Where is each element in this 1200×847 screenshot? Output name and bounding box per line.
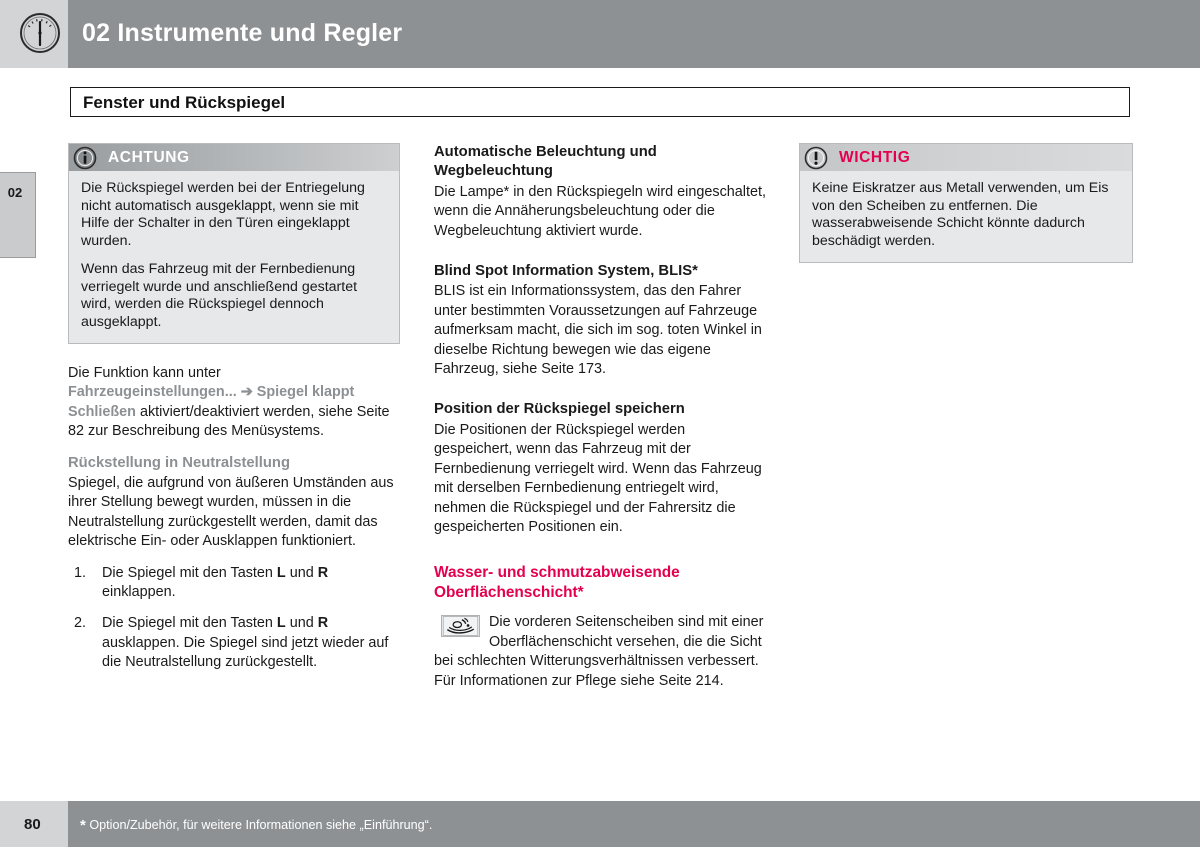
achtung-paragraph-2: Wenn das Fahrzeug mit der Fernbedienung …: [81, 261, 387, 331]
chapter-tab-label: 02: [0, 185, 33, 200]
spacer: [434, 253, 766, 262]
info-icon: [73, 146, 97, 170]
step-text-part1: Die Spiegel mit den Tasten: [102, 565, 277, 581]
wichtig-paragraph-1: Keine Eiskratzer aus Metall verwenden, u…: [812, 180, 1120, 250]
key-label-r: R: [318, 565, 328, 581]
menu-arrow-glyph: ➔: [241, 384, 253, 400]
step-text-part1: Die Spiegel mit den Tasten: [102, 615, 277, 631]
reset-paragraph: Spiegel, die aufgrund von äußeren Umstän…: [68, 474, 400, 552]
blis-paragraph: BLIS ist ein Informationssystem, das den…: [434, 282, 766, 379]
lighting-heading: Automatische Beleuchtung und Wegbeleucht…: [434, 143, 766, 182]
reset-heading: Rückstellung in Neutralstellung: [68, 454, 400, 473]
left-column: ACHTUNG Die Rückspiegel werden bei der E…: [68, 143, 400, 685]
page-title: 02 Instrumente und Regler: [82, 19, 402, 48]
position-paragraph: Die Positionen der Rückspiegel werden ge…: [434, 421, 766, 537]
step-text-part3: ausklappen. Die Spiegel sind jetzt wiede…: [102, 635, 388, 670]
achtung-callout-body: Die Rückspiegel werden bei der Entriegel…: [69, 171, 399, 343]
achtung-paragraph-1: Die Rückspiegel werden bei der Entriegel…: [81, 180, 387, 250]
spacer: [68, 344, 400, 364]
water-repellent-glass-icon: [441, 615, 480, 637]
list-item: 2.Die Spiegel mit den Tasten L und R aus…: [68, 614, 400, 672]
step-text-part3: einklappen.: [102, 584, 176, 600]
footnote: * Option/Zubehör, für weitere Informatio…: [80, 817, 432, 834]
spacer: [434, 604, 766, 613]
achtung-callout: ACHTUNG Die Rückspiegel werden bei der E…: [68, 143, 400, 344]
wichtig-callout-body: Keine Eiskratzer aus Metall verwenden, u…: [800, 171, 1132, 262]
coating-paragraph-block: Die vorderen Seitenscheiben sind mit ein…: [434, 613, 766, 691]
spacer: [434, 391, 766, 400]
middle-column: Automatische Beleuchtung und Wegbeleucht…: [434, 143, 766, 691]
chapter-tab[interactable]: 02: [0, 172, 36, 258]
coating-paragraph: Die vorderen Seitenscheiben sind mit ein…: [434, 613, 766, 691]
footnote-text: Option/Zubehör, für weitere Informatione…: [89, 818, 432, 832]
achtung-callout-title: ACHTUNG: [108, 149, 190, 167]
wichtig-callout-header: WICHTIG: [800, 144, 1132, 171]
right-column: WICHTIG Keine Eiskratzer aus Metall verw…: [799, 143, 1131, 263]
section-title: Fenster und Rückspiegel: [83, 93, 285, 113]
page-number: 80: [24, 816, 41, 833]
step-text-part2: und: [286, 615, 318, 631]
menu-path-level-1: Fahrzeugeinstellungen...: [68, 384, 237, 400]
list-item: 1.Die Spiegel mit den Tasten L und R ein…: [68, 564, 400, 603]
gauge-icon: [19, 12, 61, 54]
achtung-callout-header: ACHTUNG: [69, 144, 399, 171]
wichtig-callout-title: WICHTIG: [839, 149, 910, 167]
section-title-box: Fenster und Rückspiegel: [70, 87, 1130, 117]
blis-heading: Blind Spot Information System, BLIS*: [434, 262, 766, 281]
warning-exclamation-icon: [804, 146, 828, 170]
reset-steps-list: 1.Die Spiegel mit den Tasten L und R ein…: [68, 564, 400, 673]
function-paragraph: Die Funktion kann unter Fahrzeugeinstell…: [68, 364, 400, 442]
footnote-marker: *: [80, 817, 86, 834]
position-heading: Position der Rückspiegel speichern: [434, 400, 766, 419]
function-paragraph-lead: Die Funktion kann unter: [68, 365, 221, 381]
key-label-r: R: [318, 615, 328, 631]
spacer: [434, 549, 766, 563]
step-number: 2.: [74, 614, 86, 633]
step-number: 1.: [74, 564, 86, 583]
key-label-l: L: [277, 615, 286, 631]
wichtig-callout: WICHTIG Keine Eiskratzer aus Metall verw…: [799, 143, 1133, 263]
step-text-part2: und: [286, 565, 318, 581]
lighting-paragraph: Die Lampe* in den Rückspiegeln wird eing…: [434, 183, 766, 241]
key-label-l: L: [277, 565, 286, 581]
coating-heading: Wasser- und schmutzabweisende Oberfläche…: [434, 563, 766, 603]
